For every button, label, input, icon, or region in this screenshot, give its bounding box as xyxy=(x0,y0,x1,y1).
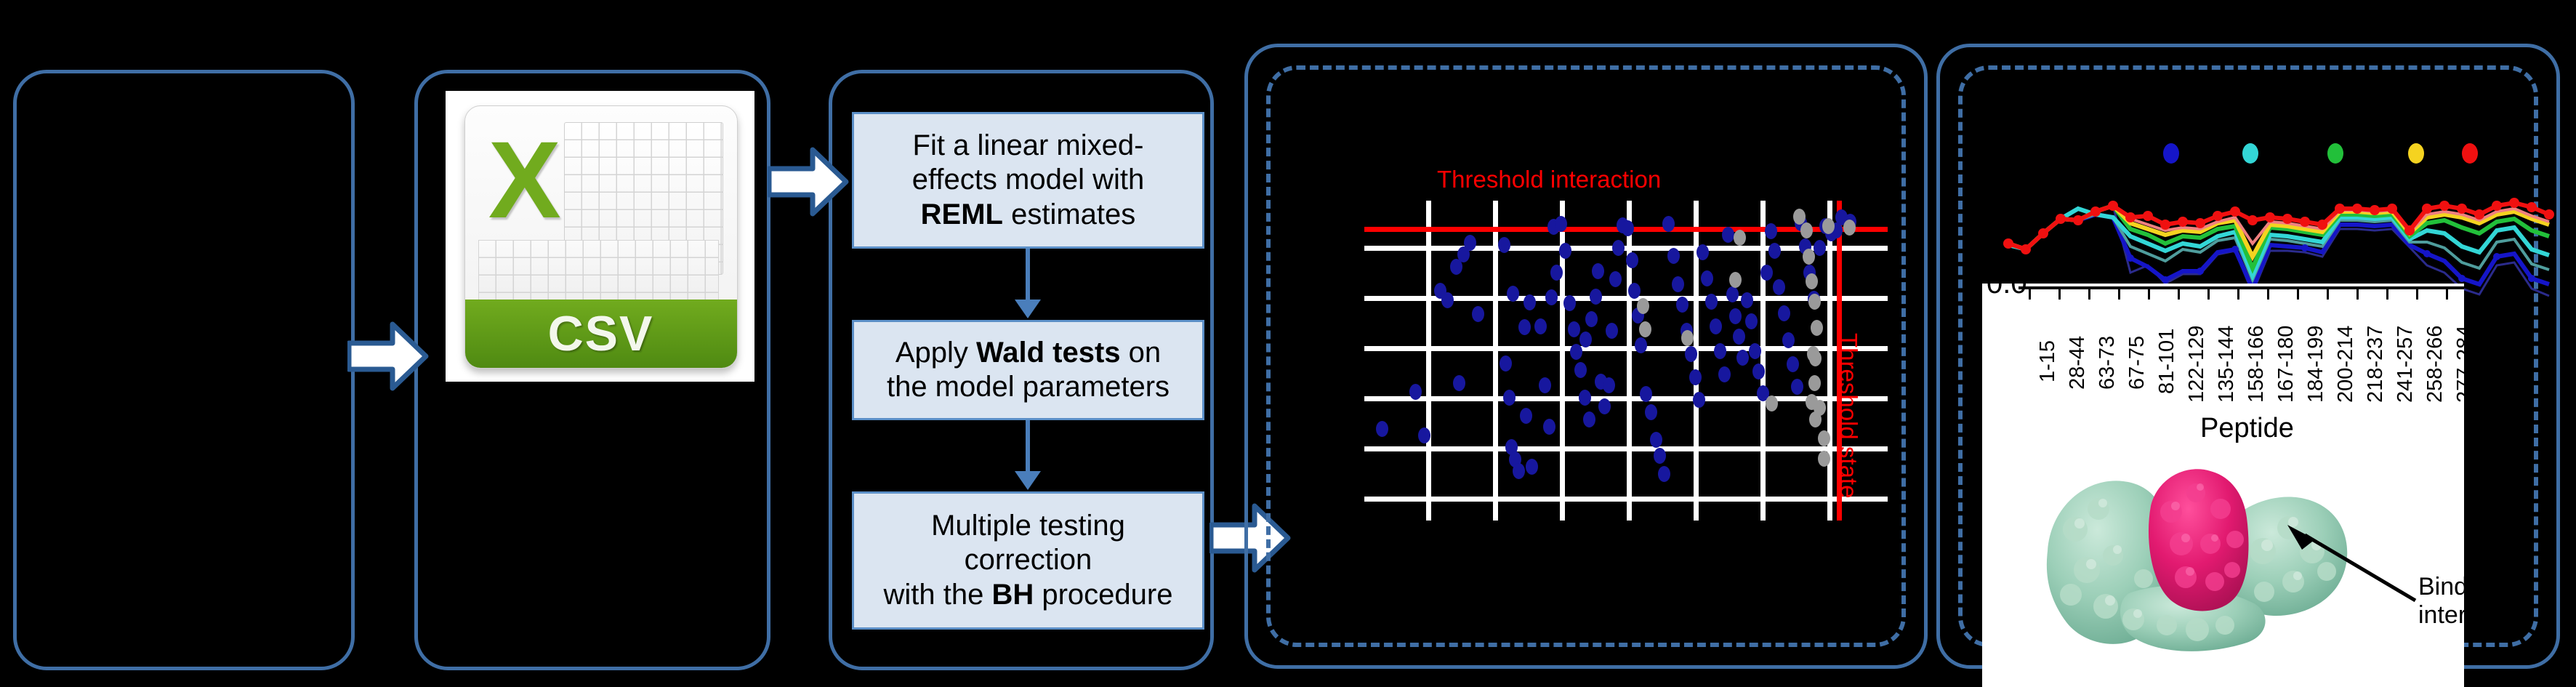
step-wald-line2: the model parameters xyxy=(887,371,1170,403)
axis-tick xyxy=(2058,288,2061,300)
peptide-tick-label: 67-75 xyxy=(2125,336,2149,390)
scatter-point xyxy=(1676,297,1689,313)
scatter-point xyxy=(1526,459,1538,475)
step-wald-text: Apply Wald tests on the model parameters xyxy=(887,336,1170,404)
step-bh-text: Multiple testing correction with the BH … xyxy=(884,509,1173,612)
scatter-point xyxy=(1520,408,1532,424)
scatter-point-grey xyxy=(1808,294,1821,310)
step-reml-bold: REML xyxy=(921,198,1003,230)
step-reml-box[interactable]: Fit a linear mixed- effects model with R… xyxy=(852,112,1204,249)
axis-tick xyxy=(2148,288,2150,300)
axis-tick xyxy=(2178,288,2180,300)
scatter-point xyxy=(1640,386,1652,402)
peptide-tick-label: 258-266 xyxy=(2423,326,2447,403)
axis-tick xyxy=(2446,288,2448,300)
binding-interface-arrow xyxy=(2280,523,2426,611)
scatter-point xyxy=(1701,270,1713,286)
peptide-tick-label: 81-101 xyxy=(2155,329,2179,394)
axis-tick xyxy=(2327,288,2329,300)
axis-tick xyxy=(2029,288,2031,300)
scatter-point-grey xyxy=(1843,220,1856,236)
scatter-point xyxy=(1612,240,1625,256)
scatter-point-grey xyxy=(1637,298,1649,314)
scatter-point xyxy=(1464,235,1476,251)
peptide-chart-svg xyxy=(1995,164,2569,298)
connector-wald-to-bh xyxy=(1026,420,1030,475)
scatter-point xyxy=(1418,427,1430,443)
binding-interface-label: Binding interface xyxy=(2418,573,2464,630)
scatter-point xyxy=(1778,305,1790,321)
scatter-point-grey xyxy=(1681,330,1694,346)
scatter-point xyxy=(1590,289,1602,305)
scatter-point xyxy=(1583,411,1595,427)
binding-interface-line2: interface xyxy=(2418,601,2464,630)
scatter-point xyxy=(1791,379,1803,395)
csv-label: CSV xyxy=(548,305,654,362)
scatter-point-grey xyxy=(1806,273,1818,289)
legend-dot-series-red xyxy=(2462,143,2478,164)
scatter-point xyxy=(1765,223,1777,239)
scatter-point xyxy=(1752,363,1765,379)
scatter-point xyxy=(1585,311,1598,327)
peptide-axis-inset: 0.0 1-15 28-44 63-73 67-75 81-101 122-12… xyxy=(1982,284,2464,687)
scatter-point xyxy=(1710,318,1722,334)
scatter-point xyxy=(1782,332,1795,348)
scatter-point xyxy=(1592,263,1604,279)
scatter-point xyxy=(1814,240,1826,256)
scatter-point xyxy=(1606,323,1618,339)
scatter-point xyxy=(1545,289,1558,305)
scatter-point-grey xyxy=(1803,249,1815,265)
step-wald-bold: Wald tests xyxy=(976,337,1121,369)
arrow-input-to-csv xyxy=(347,320,429,393)
scatter-point xyxy=(1441,292,1454,308)
scatter-point xyxy=(1568,321,1580,337)
scatter-point xyxy=(1570,344,1582,360)
scatter-point xyxy=(1453,375,1465,391)
scatter-point-grey xyxy=(1818,430,1830,446)
scatter-point xyxy=(1559,243,1571,259)
step-bh-line1: Multiple testing xyxy=(931,510,1125,542)
input-panel xyxy=(13,70,355,670)
scatter-point xyxy=(1658,466,1670,482)
scatter-plot xyxy=(1364,201,1888,521)
peptide-tick-label: 167-180 xyxy=(2274,326,2298,403)
scatter-point xyxy=(1696,244,1709,260)
peptide-tick-label: 277-284 xyxy=(2453,326,2464,403)
scatter-point xyxy=(1518,319,1531,335)
scatter-point-grey xyxy=(1809,350,1822,366)
scatter-point-grey xyxy=(1818,451,1830,467)
axis-tick xyxy=(2416,288,2418,300)
scatter-point-grey xyxy=(1734,230,1746,246)
scatter-point-grey xyxy=(1809,411,1822,427)
axis-tick xyxy=(2297,288,2299,300)
step-bh-bold: BH xyxy=(991,579,1034,611)
csv-file-icon: X CSV xyxy=(446,91,754,382)
connector-wald-to-bh-arrowhead xyxy=(1015,471,1041,490)
scatter-point xyxy=(1579,332,1592,347)
legend-dot-series-cyan xyxy=(2242,143,2258,164)
peptide-tick-label: 241-257 xyxy=(2394,326,2418,403)
scatter-point xyxy=(1645,404,1657,420)
scatter-point xyxy=(1409,384,1422,400)
scatter-point-grey xyxy=(1639,321,1651,337)
step-reml-line3tail: estimates xyxy=(1003,198,1135,230)
step-reml-line1: Fit a linear mixed- xyxy=(913,129,1144,161)
scatter-point xyxy=(1603,377,1615,393)
scatter-point xyxy=(1503,390,1516,406)
scatter-point xyxy=(1376,421,1388,437)
scatter-point xyxy=(1513,463,1525,479)
axis-tick xyxy=(2237,288,2239,300)
scatter-point xyxy=(1500,355,1512,371)
peptide-tick-label: 122-129 xyxy=(2185,326,2209,403)
scatter-point xyxy=(1543,419,1555,435)
axis-tick xyxy=(2267,288,2269,300)
scatter-point xyxy=(1693,392,1705,408)
scatter-point xyxy=(1773,279,1785,295)
scatter-point xyxy=(1749,343,1761,359)
connector-reml-to-wald-arrowhead xyxy=(1015,300,1041,318)
scatter-point-grey xyxy=(1793,209,1806,225)
scatter-point xyxy=(1745,313,1758,329)
scatter-point xyxy=(1472,306,1484,322)
scatter-point xyxy=(1628,283,1641,299)
y-axis-tick-label: 0.0 xyxy=(1987,284,2027,300)
scatter-point xyxy=(1672,276,1684,292)
scatter-point xyxy=(1563,295,1576,311)
scatter-point xyxy=(1662,216,1675,232)
scatter-point xyxy=(1787,356,1799,372)
peptide-axis-line xyxy=(2018,286,2464,289)
csv-label-band: CSV xyxy=(465,300,737,368)
step-bh-line3post: procedure xyxy=(1034,579,1172,611)
excel-x-icon: X xyxy=(478,116,571,242)
arrow-csv-to-analysis xyxy=(768,145,849,218)
axis-tick xyxy=(2207,288,2210,300)
csv-spreadsheet-grid-bottom xyxy=(478,240,719,302)
axis-tick xyxy=(2118,288,2120,300)
scatter-point xyxy=(1650,432,1662,448)
axis-tick xyxy=(2356,288,2359,300)
step-bh-line3pre: with the xyxy=(884,579,992,611)
scatter-point xyxy=(1626,252,1638,268)
scatter-point-grey xyxy=(1811,320,1823,336)
step-wald-post: on xyxy=(1121,337,1162,369)
scatter-point xyxy=(1685,346,1697,362)
step-wald-box[interactable]: Apply Wald tests on the model parameters xyxy=(852,320,1204,420)
step-wald-pre: Apply xyxy=(895,337,976,369)
axis-tick xyxy=(2088,288,2090,300)
scatter-point xyxy=(1667,248,1680,264)
scatter-point xyxy=(1733,329,1745,345)
peptide-tick-label: 218-237 xyxy=(2364,326,2388,403)
peptide-tick-label: 1-15 xyxy=(2036,340,2060,382)
peptide-tick-label: 28-44 xyxy=(2066,336,2090,390)
scatter-point-grey xyxy=(1800,222,1813,238)
scatter-point xyxy=(1722,227,1734,243)
scatter-point xyxy=(1609,271,1622,287)
scatter-point xyxy=(1574,362,1587,378)
threshold-interaction-label: Threshold interaction xyxy=(1437,166,1661,193)
peptide-tick-label: 184-199 xyxy=(2304,326,2328,403)
step-reml-text: Fit a linear mixed- effects model with R… xyxy=(912,129,1144,232)
scatter-point-grey xyxy=(1808,375,1821,391)
scatter-point xyxy=(1507,286,1519,302)
scatter-point xyxy=(1534,318,1547,334)
step-bh-line2: correction xyxy=(965,544,1092,576)
scatter-point xyxy=(1498,237,1510,253)
scatter-point xyxy=(1726,286,1739,302)
binding-arrow-svg xyxy=(2280,523,2426,611)
peptide-line-chart xyxy=(1995,164,2569,298)
scatter-point xyxy=(1768,243,1781,259)
legend-dot-series-blue xyxy=(2163,143,2179,164)
scatter-point xyxy=(1714,343,1726,359)
peptide-axis-title: Peptide xyxy=(2200,413,2294,444)
peptide-tick-label: 158-166 xyxy=(2245,326,2269,403)
scatter-point-grey xyxy=(1766,395,1778,411)
scatter-point xyxy=(1539,377,1551,393)
scatter-point xyxy=(1654,448,1666,464)
connector-reml-to-wald xyxy=(1026,249,1030,304)
scatter-point xyxy=(1579,390,1591,406)
csv-icon-body: X CSV xyxy=(464,105,738,369)
legend-dot-series-yellow xyxy=(2408,143,2424,164)
scatter-point xyxy=(1555,216,1567,232)
peptide-tick-label: 200-214 xyxy=(2334,326,2358,403)
scatter-point-grey xyxy=(1729,272,1742,288)
scatter-point xyxy=(1622,220,1634,236)
scatter-point xyxy=(1718,366,1731,382)
legend-dot-series-green xyxy=(2327,143,2343,164)
peptide-tick-label: 63-73 xyxy=(2096,336,2120,390)
scatter-point xyxy=(1598,398,1611,414)
scatter-point xyxy=(1705,294,1718,310)
scatter-point xyxy=(1729,308,1742,324)
pipeline-diagram: X CSV Fit a linear mixed- effects model … xyxy=(0,0,2576,687)
step-bh-box[interactable]: Multiple testing correction with the BH … xyxy=(852,491,1204,630)
scatter-point xyxy=(1524,294,1536,310)
scatter-point xyxy=(1736,350,1749,366)
binding-interface-line1: Binding xyxy=(2418,573,2464,601)
scatter-point xyxy=(1635,337,1647,353)
scatter-point xyxy=(1689,369,1702,385)
scatter-point xyxy=(1760,265,1773,281)
step-reml-line2: effects model with xyxy=(912,164,1144,196)
threshold-state-label: Threshold state xyxy=(1835,333,1862,498)
scatter-point xyxy=(1741,292,1753,308)
axis-tick xyxy=(2386,288,2388,300)
scatter-point-grey xyxy=(1822,218,1835,234)
peptide-tick-label: 135-144 xyxy=(2215,326,2239,403)
scatter-point xyxy=(1550,265,1563,281)
